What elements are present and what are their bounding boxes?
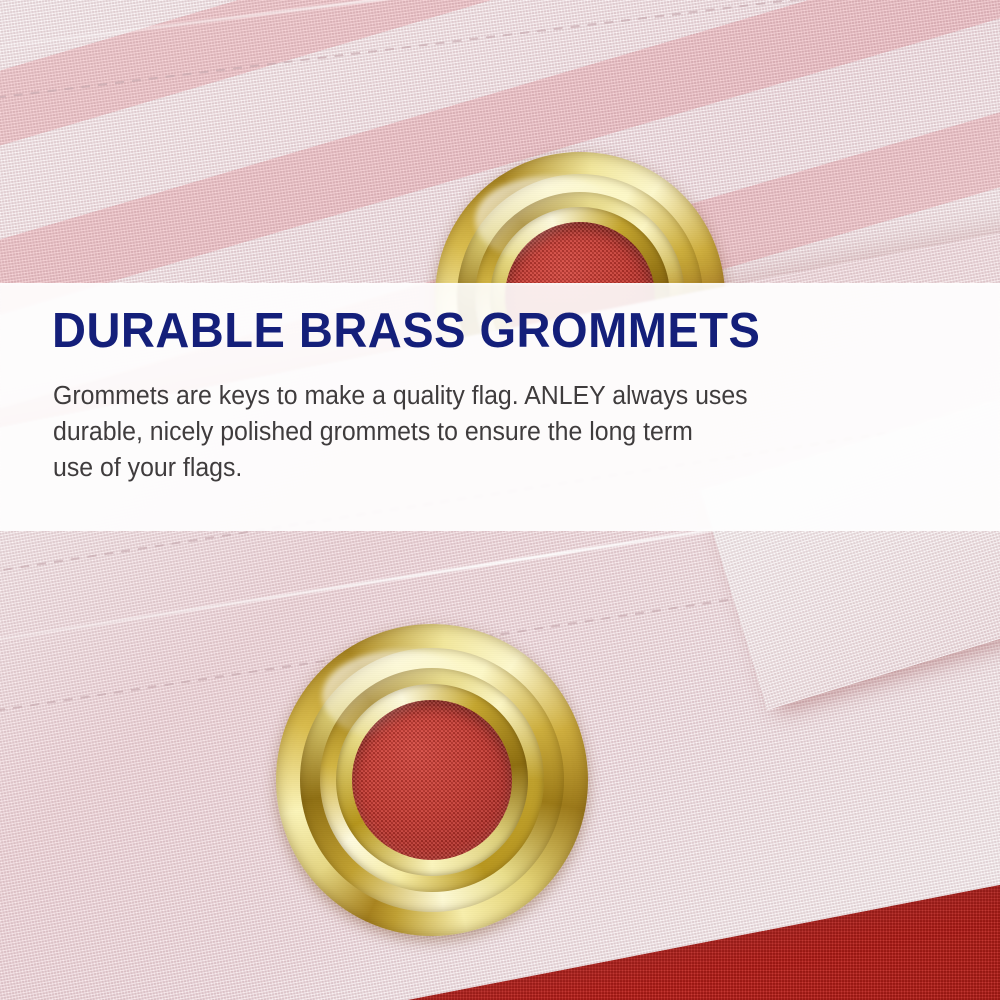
- grommet-hole-red-fabric-bottom: [352, 700, 512, 860]
- description-line-2: durable, nicely polished grommets to ens…: [53, 414, 921, 450]
- product-feature-image: DURABLE BRASS GROMMETS Grommets are keys…: [0, 0, 1000, 1000]
- text-overlay-band: DURABLE BRASS GROMMETS Grommets are keys…: [0, 283, 1000, 531]
- description-line-3: use of your flags.: [53, 450, 921, 486]
- brass-grommet-bottom: [276, 624, 588, 936]
- feature-headline: DURABLE BRASS GROMMETS: [52, 303, 760, 359]
- feature-description: Grommets are keys to make a quality flag…: [53, 378, 921, 486]
- description-line-1: Grommets are keys to make a quality flag…: [53, 378, 921, 414]
